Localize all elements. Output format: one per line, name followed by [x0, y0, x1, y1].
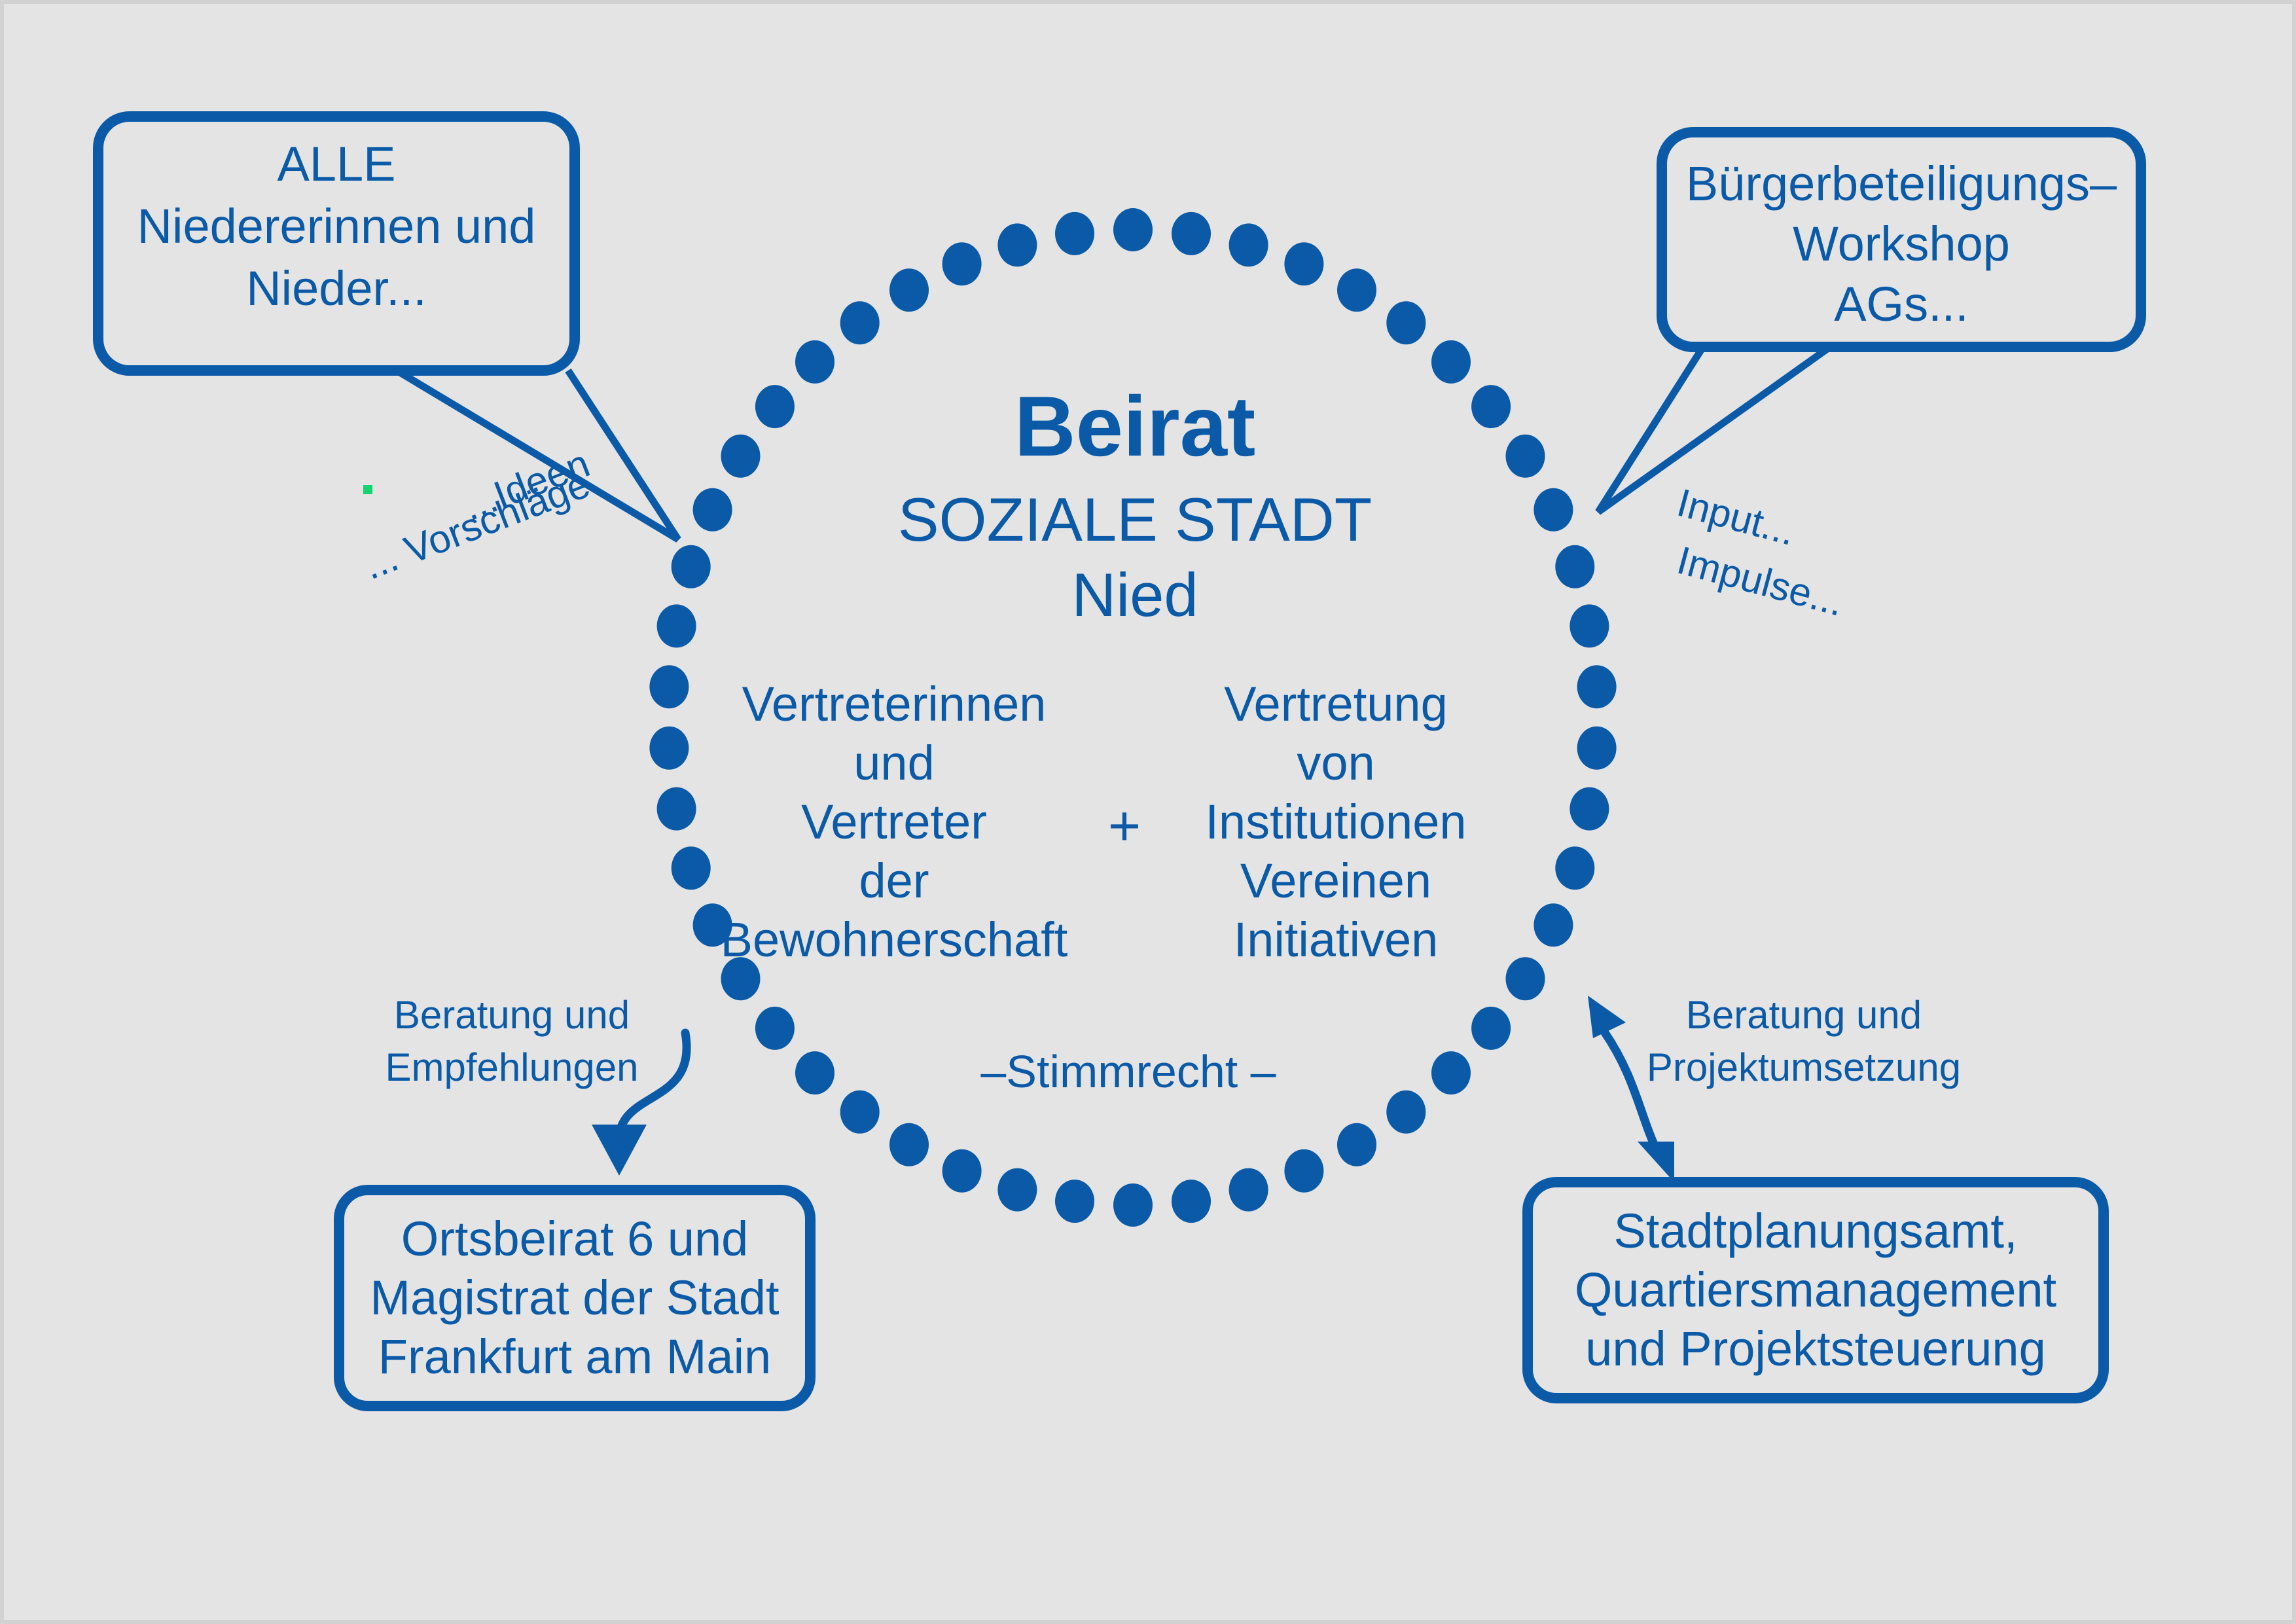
circle-dot — [795, 1051, 834, 1094]
circle-dot — [1534, 903, 1573, 947]
left-column-line-1: Vertreterinnen — [742, 677, 1047, 731]
circle-dot — [1431, 340, 1471, 384]
diagram-canvas: Beirat SOZIALE STADT Nied Vertreterinnen… — [0, 0, 2296, 1624]
circle-dot — [1471, 1007, 1511, 1050]
box-bottom-left-line-3: Frankfurt am Main — [378, 1329, 771, 1384]
right-column-line-1: Vertretung — [1224, 677, 1447, 731]
circle-dot — [1471, 385, 1511, 428]
circle-dot — [672, 846, 711, 890]
circle-dot — [721, 435, 761, 478]
circle-dot — [1229, 223, 1268, 266]
left-column-line-4: der — [859, 854, 929, 908]
circle-dot — [1172, 212, 1211, 255]
circle-dot — [1337, 268, 1376, 312]
annotation-impulse: Impulse... — [1673, 538, 1849, 624]
circle-dot — [672, 545, 711, 588]
box-bottom-left-line-2: Magistrat der Stadt — [370, 1271, 780, 1325]
box-bottom-right-line-2: Quartiersmanagement — [1575, 1263, 2057, 1317]
center-title: Beirat — [1014, 378, 1255, 474]
box-bottom-left[interactable]: Ortsbeirat 6 und Magistrat der Stadt Fra… — [339, 1190, 810, 1406]
circle-dot — [840, 1091, 880, 1134]
center-subtitle-line1: SOZIALE STADT — [898, 485, 1372, 554]
box-bottom-left-line-1: Ortsbeirat 6 und — [401, 1212, 749, 1266]
circle-dot — [1113, 208, 1153, 251]
circle-dot — [1570, 604, 1609, 647]
circle-dot — [649, 665, 689, 708]
circle-dot — [942, 242, 982, 285]
circle-dot — [1172, 1180, 1211, 1223]
beirat-diagram: Beirat SOZIALE STADT Nied Vertreterinnen… — [4, 4, 2296, 1624]
center-subtitle-line2: Nied — [1071, 560, 1198, 629]
speech-bubble-top-left-line-3: Nieder... — [246, 261, 427, 316]
circle-dot — [1506, 957, 1545, 1000]
box-bottom-right-line-3: und Projektsteuerung — [1585, 1322, 2045, 1376]
speech-bubble-top-right-line-3: AGs... — [1834, 277, 1969, 331]
plus-sign: + — [1108, 795, 1141, 857]
circle-dot — [1431, 1051, 1471, 1094]
circle-dot — [1284, 242, 1323, 285]
circle-dot — [755, 385, 795, 428]
circle-dot — [1577, 665, 1617, 708]
circle-dot — [942, 1149, 982, 1193]
circle-dot — [1113, 1183, 1153, 1227]
right-column-line-2: von — [1297, 736, 1374, 790]
arrow-beratung-projektumsetzung-head-down — [1638, 1142, 1674, 1182]
circle-dot — [1534, 488, 1573, 532]
speech-bubble-top-right-tail — [1598, 347, 1830, 512]
speech-bubble-top-right-line-1: Bürgerbeteiligungs– — [1686, 156, 2117, 211]
circle-dot — [1055, 212, 1094, 255]
circle-dot — [755, 1007, 795, 1050]
circle-dot — [1284, 1149, 1323, 1193]
circle-dot — [1229, 1168, 1268, 1212]
circle-dot — [1386, 1091, 1426, 1134]
circle-dot — [649, 727, 689, 770]
circle-dot — [997, 223, 1037, 266]
right-column-line-4: Vereinen — [1240, 854, 1431, 908]
circle-dot — [1386, 301, 1426, 344]
arrow-beratung-empfehlungen-head — [592, 1125, 647, 1176]
circle-dot — [1555, 846, 1594, 890]
circle-dot — [1577, 727, 1617, 770]
circle-dot — [1506, 435, 1545, 478]
right-column-group: Vertretung von Institutionen Vereinen In… — [1205, 677, 1466, 967]
speech-bubble-top-left-line-2: Niedererinnen und — [137, 199, 536, 253]
voting-note: –Stimmrecht – — [980, 1046, 1276, 1097]
circle-dot — [1555, 545, 1594, 588]
annotation-beratung-projekt-line1: Beratung und — [1686, 993, 1922, 1037]
left-column-group: Vertreterinnen und Vertreter der Bewohne… — [721, 677, 1068, 967]
right-column-line-5: Initiativen — [1234, 912, 1439, 967]
annotation-beratung-empfehlungen-line2: Empfehlungen — [386, 1045, 639, 1089]
circle-dot — [1570, 787, 1609, 831]
circle-dot — [840, 301, 880, 344]
box-bottom-right-line-1: Stadtplanungsamt, — [1613, 1204, 2017, 1258]
speech-bubble-top-right-line-2: Workshop — [1793, 217, 2010, 271]
speech-bubble-top-left-line-1: ALLE — [277, 137, 395, 191]
right-column-line-3: Institutionen — [1205, 795, 1466, 849]
circle-dot — [657, 787, 696, 831]
left-column-line-2: und — [853, 736, 934, 790]
circle-dot — [889, 268, 929, 312]
left-column-line-5: Bewohnerschaft — [721, 912, 1068, 967]
green-speck-marker — [363, 485, 372, 494]
circle-dot — [997, 1168, 1037, 1212]
box-bottom-right[interactable]: Stadtplanungsamt, Quartiersmanagement un… — [1528, 1182, 2104, 1398]
circle-dot — [1055, 1180, 1094, 1223]
circle-dot — [693, 488, 732, 532]
annotation-beratung-empfehlungen-line1: Beratung und — [394, 993, 630, 1037]
circle-dot — [889, 1123, 929, 1166]
circle-dot — [657, 604, 696, 647]
circle-dot — [795, 340, 834, 384]
left-column-line-3: Vertreter — [801, 795, 987, 849]
speech-bubble-top-right[interactable]: Bürgerbeteiligungs– Workshop AGs... — [1598, 132, 2141, 512]
annotation-beratung-projekt-line2: Projektumsetzung — [1647, 1045, 1961, 1089]
circle-dot — [1337, 1123, 1376, 1166]
